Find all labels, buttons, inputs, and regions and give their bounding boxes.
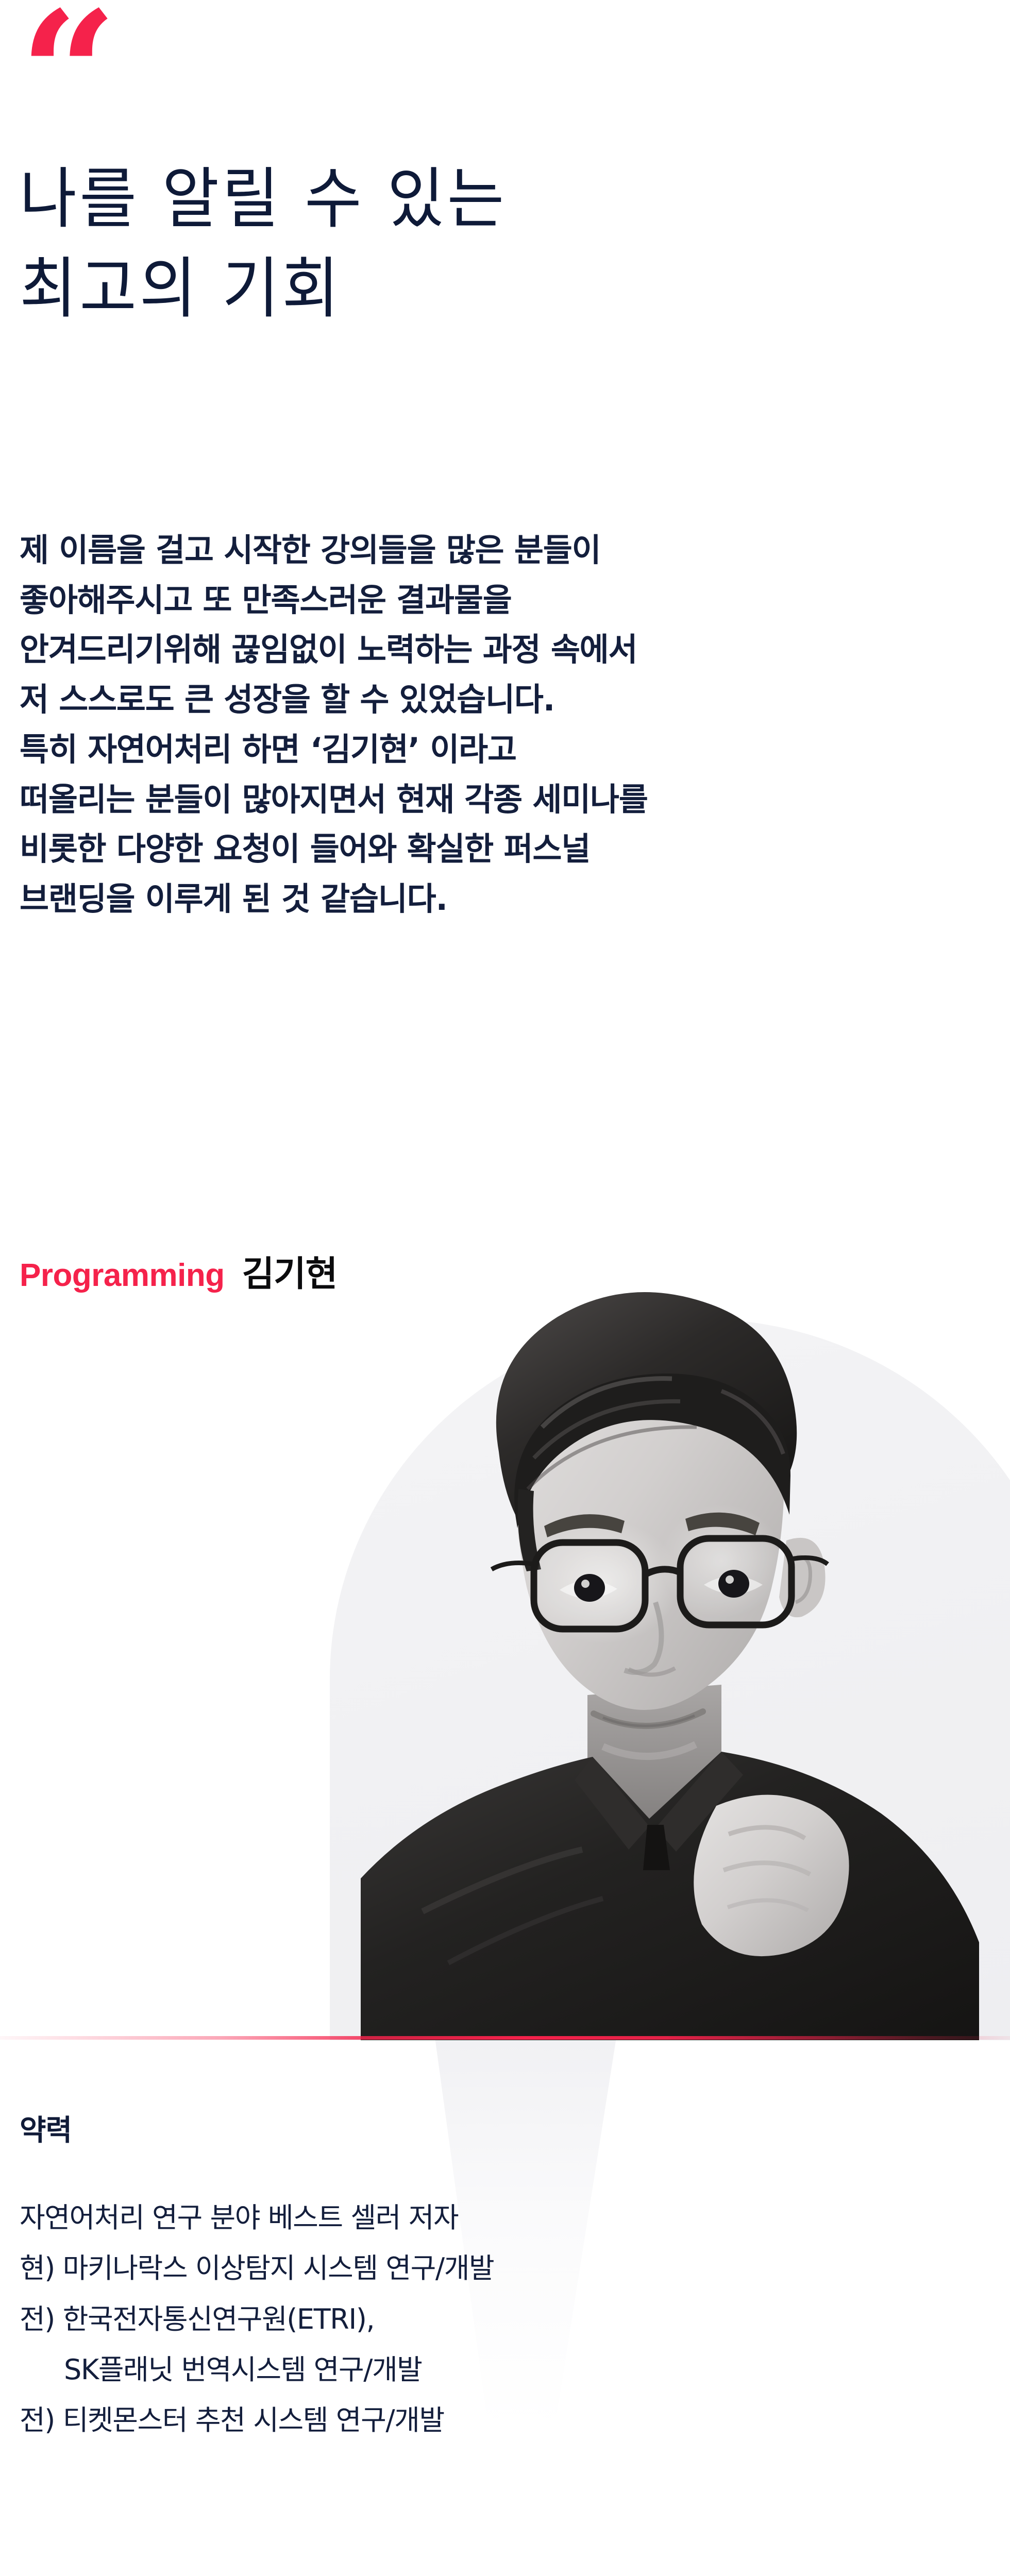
bio-line: 자연어처리 연구 분야 베스트 셀러 저자 (20, 2193, 844, 2243)
bio-section: 약력 자연어처리 연구 분야 베스트 셀러 저자 현) 마키나락스 이상탐지 시… (20, 2116, 844, 2446)
bio-line: SK플래닛 번역시스템 연구/개발 (20, 2345, 844, 2395)
portrait-photo (361, 1273, 1010, 2040)
byline: Programming 김기현 (20, 1257, 337, 1292)
bio-line: 전) 한국전자통신연구원(ETRI), (20, 2294, 844, 2345)
quote-line: 브랜딩을 이루게 된 것 같습니다. (20, 874, 937, 924)
bio-line: 현) 마키나락스 이상탐지 시스템 연구/개발 (20, 2243, 844, 2294)
quote-line: 떠올리는 분들이 많아지면서 현재 각종 세미나를 (20, 775, 937, 825)
headline-line-1: 나를 알릴 수 있는 (20, 155, 775, 244)
bio-line: 전) 티켓몬스터 추천 시스템 연구/개발 (20, 2395, 844, 2446)
page-title: 나를 알릴 수 있는 최고의 기회 (20, 155, 823, 334)
quote-line: 제 이름을 걸고 시작한 강의들을 많은 분들이 (20, 526, 937, 575)
quote-paragraph: 제 이름을 걸고 시작한 강의들을 많은 분들이 좋아해주시고 또 만족스러운 … (20, 526, 937, 924)
profile-page: “ 나를 알릴 수 있는 최고의 기회 제 이름을 걸고 시작한 강의들을 많은… (0, 0, 1010, 2576)
quote-line: 특히 자연어처리 하면 ‘김기현’ 이라고 (20, 725, 937, 775)
quote-line: 안겨드리기위해 끊임없이 노력하는 과정 속에서 (20, 625, 937, 675)
portrait-image (361, 1273, 1010, 2040)
quote-line: 저 스스로도 큰 성장을 할 수 있었습니다. (20, 675, 937, 725)
open-quote-icon: “ (20, 0, 113, 159)
bio-heading: 약력 (20, 2116, 844, 2145)
section-divider (0, 2036, 1010, 2040)
headline-line-2: 최고의 기회 (20, 244, 775, 334)
byline-role-label: Programming (20, 1260, 225, 1292)
quote-line: 비롯한 다양한 요청이 들어와 확실한 퍼스널 (20, 824, 937, 874)
byline-person-name: 김기현 (242, 1257, 338, 1292)
quote-line: 좋아해주시고 또 만족스러운 결과물을 (20, 575, 937, 625)
